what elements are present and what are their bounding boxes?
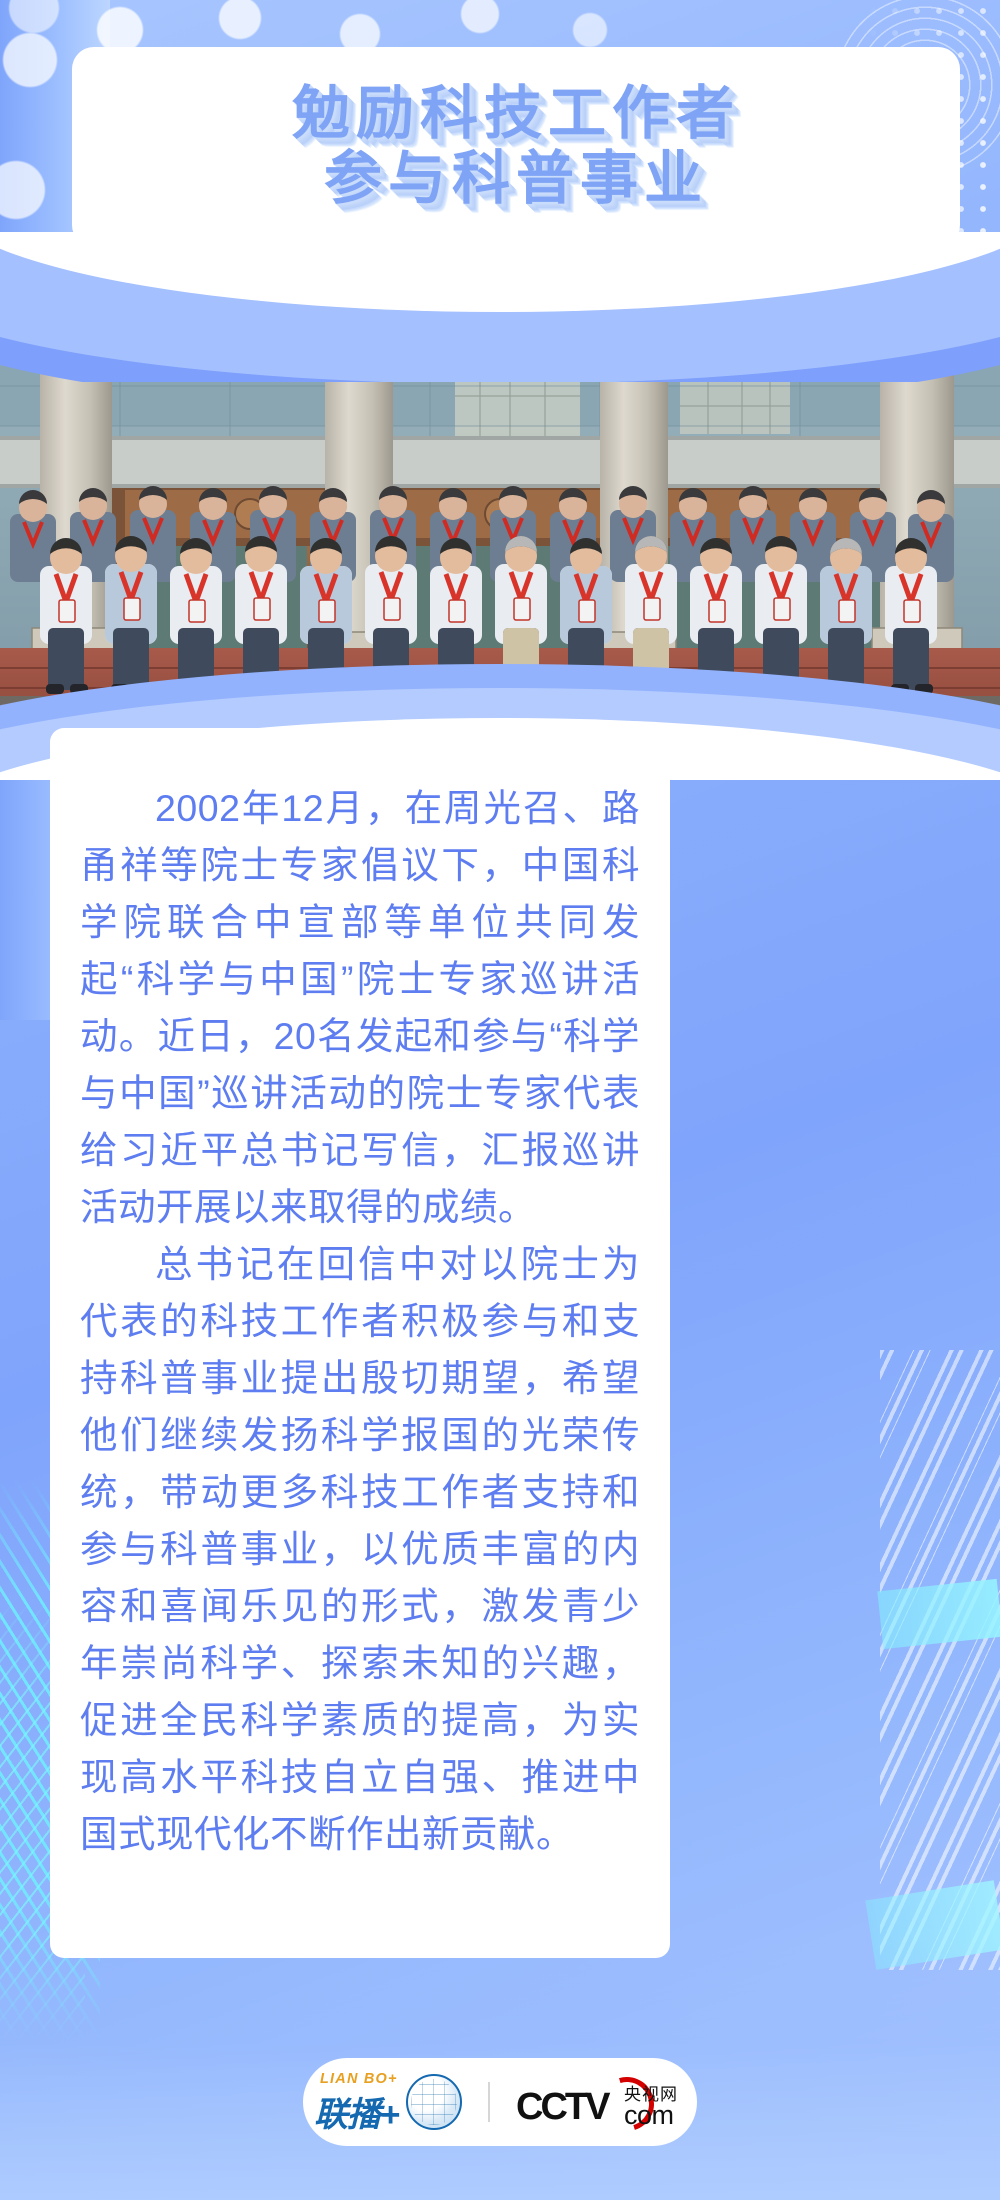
right-dashed-line-pattern xyxy=(880,1350,1000,1970)
right-cyan-band xyxy=(877,1579,1000,1649)
poster-canvas: 勉励科技工作者 参与科普事业 2002年12月，在周光召、路甬祥等院士专家倡议下… xyxy=(0,0,1000,2200)
cctv-wordmark: CCTV xyxy=(516,2086,607,2129)
right-cyan-band-2 xyxy=(865,1880,1000,1969)
lianbo-logo-en: LIAN BO+ xyxy=(320,2071,398,2087)
title-card: 勉励科技工作者 参与科普事业 xyxy=(72,47,960,247)
globe-icon xyxy=(406,2074,462,2130)
header-wave-divider xyxy=(0,232,1000,382)
logo-divider xyxy=(488,2082,490,2122)
lianbo-logo-cn: 联播+ xyxy=(314,2087,399,2136)
cctv-domain-suffix: com xyxy=(624,2100,674,2131)
cctv-logo[interactable]: CCTV 央视网 com xyxy=(516,2074,688,2130)
lianbo-logo[interactable]: LIAN BO+ 联播+ xyxy=(312,2071,462,2133)
article-paragraph-2: 总书记在回信中对以院士为代表的科技工作者积极参与和支持科普事业提出殷切期望，希望… xyxy=(80,1236,640,1863)
page-title-line-1: 勉励科技工作者 xyxy=(292,82,740,147)
page-title-line-2: 参与科普事业 xyxy=(324,147,708,212)
article-card: 2002年12月，在周光召、路甬祥等院士专家倡议下，中国科学院联合中宣部等单位共… xyxy=(50,728,670,1958)
article-paragraph-1: 2002年12月，在周光召、路甬祥等院士专家倡议下，中国科学院联合中宣部等单位共… xyxy=(80,780,640,1236)
footer-logo-bar: LIAN BO+ 联播+ CCTV 央视网 com xyxy=(303,2058,697,2146)
